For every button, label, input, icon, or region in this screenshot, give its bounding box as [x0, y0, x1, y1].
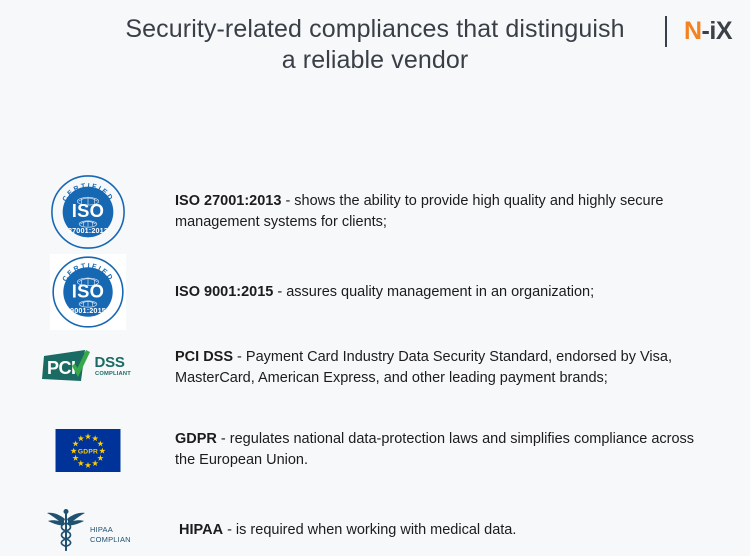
- compliance-text: - assures quality management in an organ…: [273, 284, 594, 300]
- nix-logo-n: N: [684, 17, 702, 45]
- brand-logo-group: N-iX: [665, 15, 732, 47]
- compliance-term: HIPAA: [179, 522, 223, 538]
- compliance-description: GDPR - regulates national data-protectio…: [175, 429, 750, 471]
- badge-cell: CERTIFIED COMPANY ISO 9001:2015: [0, 254, 175, 330]
- compliance-term: GDPR: [175, 431, 217, 447]
- list-item: GDPR GDPR - regulates national data-prot…: [0, 425, 750, 475]
- gdpr-eu-flag-icon: GDPR: [54, 429, 122, 472]
- brand-divider: [665, 16, 667, 47]
- badge-cell: CERTIFIED COMPANY ISO 27001:2013: [0, 174, 175, 250]
- hipaa-caduceus-icon: HIPAA COMPLIANT: [46, 506, 130, 554]
- hipaa-label-line1: HIPAA: [90, 525, 113, 534]
- compliance-term: ISO 9001:2015: [175, 284, 273, 300]
- compliance-description: PCI DSS - Payment Card Industry Data Sec…: [175, 347, 750, 389]
- gdpr-label: GDPR: [77, 448, 97, 455]
- list-item: CERTIFIED COMPANY ISO 27001:2013 ISO 270: [0, 174, 750, 250]
- page-title: Security-related compliances that distin…: [120, 14, 630, 76]
- badge-cell: HIPAA COMPLIANT: [0, 506, 175, 554]
- pci-dss-title: DSS: [94, 354, 124, 371]
- iso-seal-center-text: ISO: [71, 281, 104, 302]
- pci-dss-logo-icon: PCI DSS COMPLIANT: [42, 348, 134, 388]
- iso-seal-center-text: ISO: [71, 200, 104, 221]
- nix-logo-ix: -iX: [702, 17, 732, 45]
- iso-seal-standard: 9001:2015: [70, 306, 106, 315]
- badge-cell: PCI DSS COMPLIANT: [0, 348, 175, 388]
- hipaa-label-line2: COMPLIANT: [90, 535, 130, 544]
- compliance-text: - regulates national data-protection law…: [175, 431, 694, 468]
- compliance-term: ISO 27001:2013: [175, 193, 281, 209]
- list-item: HIPAA COMPLIANT HIPAA - is required when…: [0, 504, 750, 556]
- iso-9001-seal-icon: CERTIFIED COMPANY ISO 9001:2015: [50, 254, 126, 330]
- iso-27001-seal-icon: CERTIFIED COMPANY ISO 27001:2013: [50, 174, 126, 250]
- compliance-description: ISO 27001:2013 - shows the ability to pr…: [175, 191, 750, 233]
- pci-dss-subtitle: COMPLIANT: [95, 371, 131, 377]
- list-item: CERTIFIED COMPANY ISO 9001:2015 ISO 9001: [0, 254, 750, 330]
- nix-logo: N-iX: [684, 17, 732, 46]
- list-item: PCI DSS COMPLIANT PCI DSS - Payment Card…: [0, 342, 750, 394]
- header: Security-related compliances that distin…: [0, 0, 750, 82]
- compliance-description: ISO 9001:2015 - assures quality manageme…: [175, 282, 750, 303]
- compliance-description: HIPAA - is required when working with me…: [175, 520, 750, 541]
- iso-seal-standard: 27001:2013: [67, 226, 107, 235]
- compliance-text: - is required when working with medical …: [223, 522, 516, 538]
- badge-cell: GDPR: [0, 429, 175, 472]
- compliance-text: - Payment Card Industry Data Security St…: [175, 349, 672, 386]
- pci-mark-text: PCI: [47, 358, 76, 378]
- compliance-term: PCI DSS: [175, 349, 233, 365]
